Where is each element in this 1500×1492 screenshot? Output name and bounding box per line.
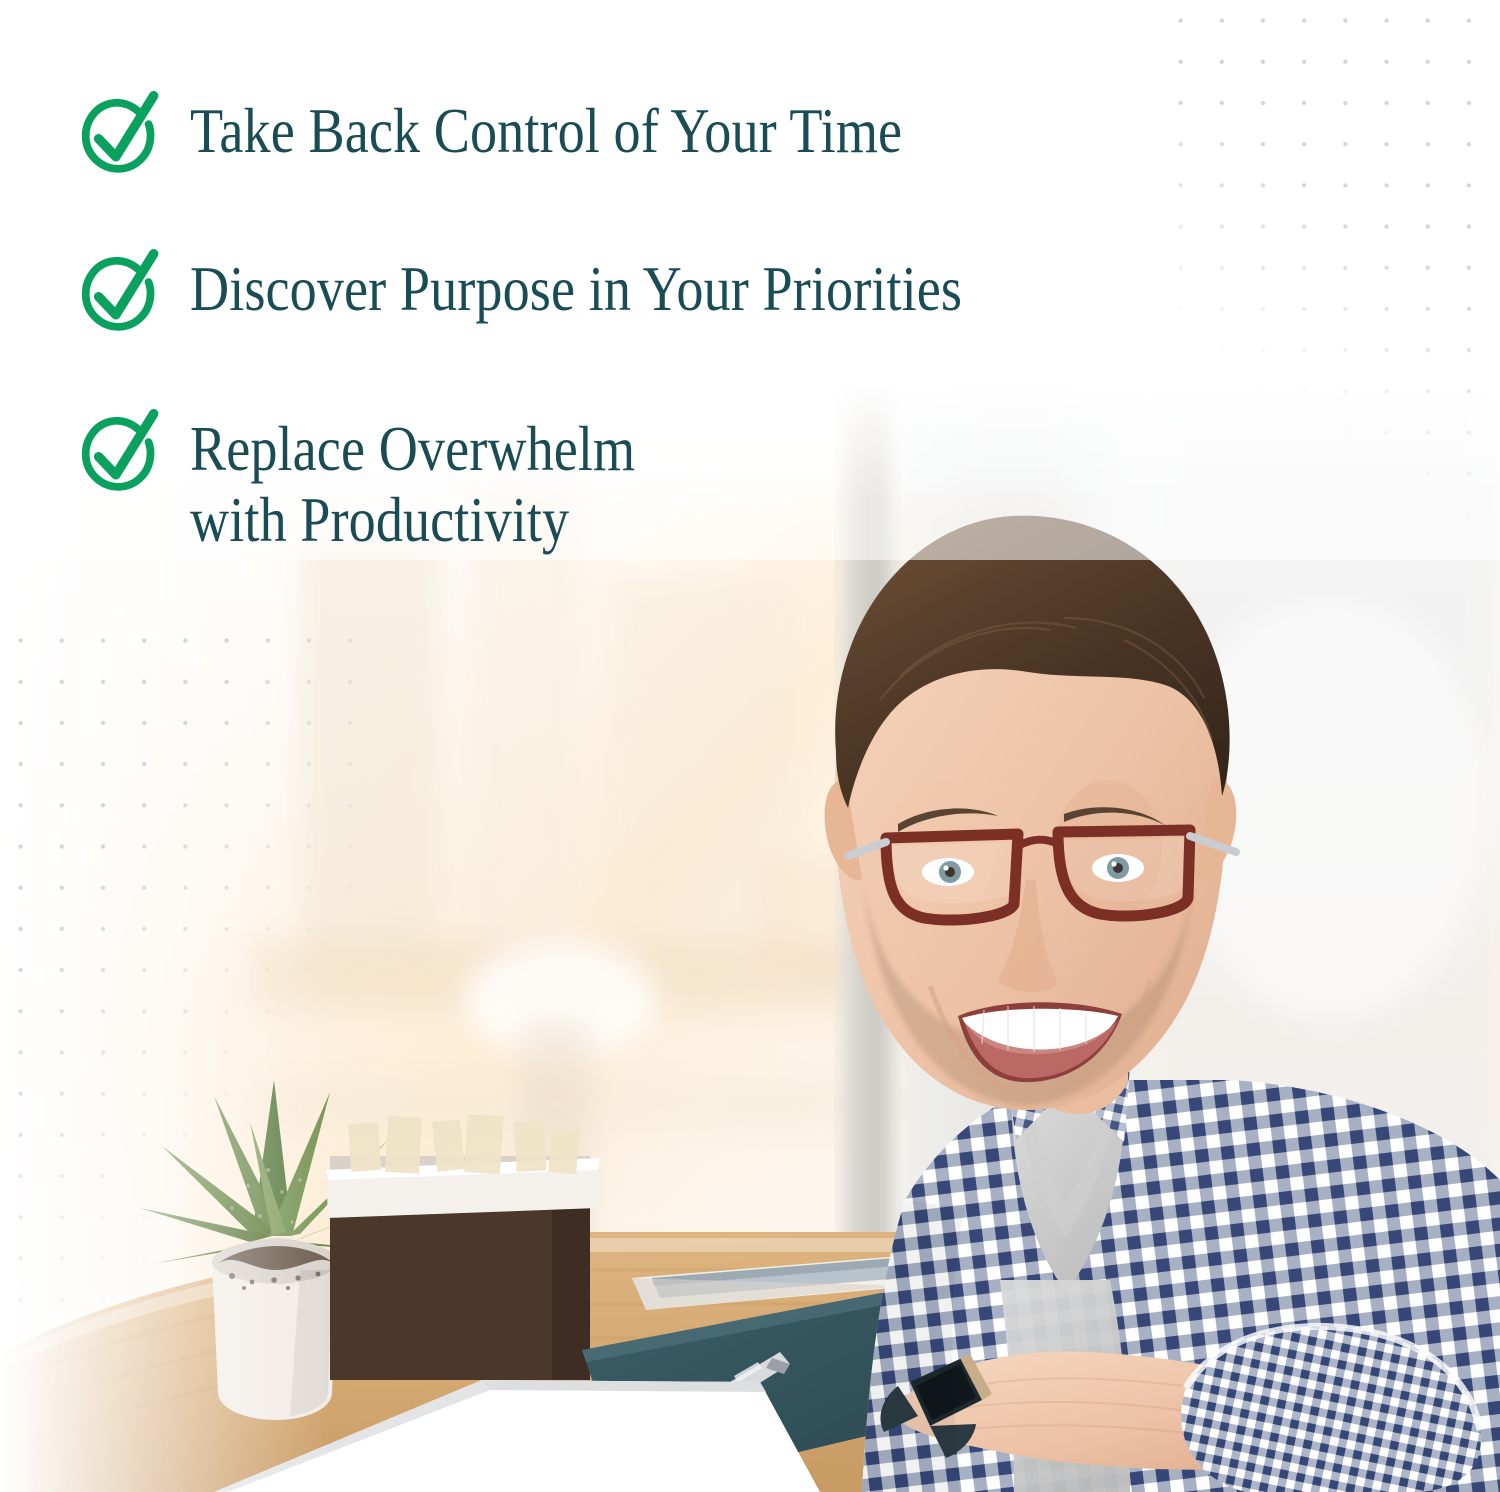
promo-graphic: Take Back Control of Your Time Discover … — [0, 0, 1500, 1492]
desk-organizer — [326, 1114, 600, 1380]
circled-check-icon — [78, 252, 164, 338]
benefit-row: Discover Purpose in Your Priorities — [78, 252, 1088, 338]
benefit-row: Replace Overwhelm with Productivity — [78, 412, 708, 555]
benefit-text: Take Back Control of Your Time — [190, 94, 902, 167]
benefit-row: Take Back Control of Your Time — [78, 94, 1018, 180]
circled-check-icon — [78, 412, 164, 498]
circled-check-icon — [78, 94, 164, 180]
benefit-text: Discover Purpose in Your Priorities — [190, 252, 962, 325]
benefit-text: Replace Overwhelm with Productivity — [190, 412, 635, 555]
